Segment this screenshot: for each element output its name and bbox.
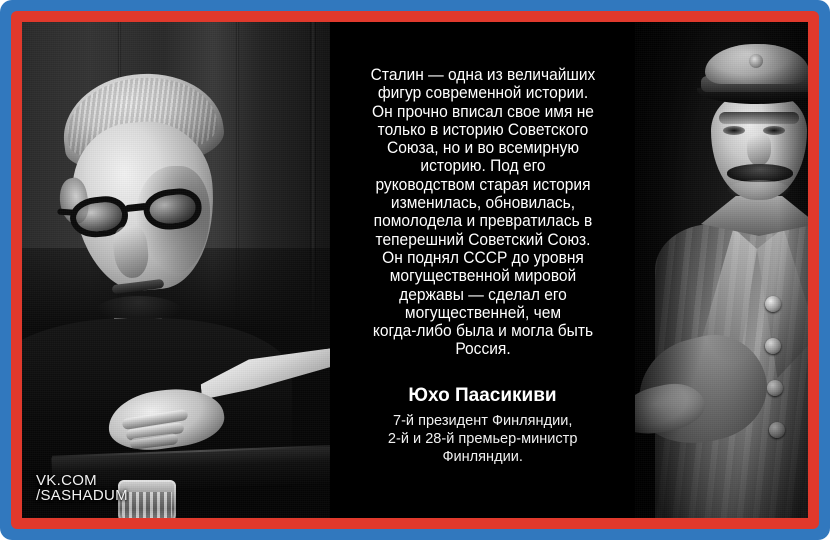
drinking-glass-ribs	[122, 492, 172, 518]
macro-canvas: VK.COM /SASHADUM Сталин — одна из велича…	[22, 22, 808, 518]
photo-paasikivi: VK.COM /SASHADUM	[22, 22, 330, 518]
image-macro: VK.COM /SASHADUM Сталин — одна из велича…	[0, 0, 830, 540]
inner-red-frame: VK.COM /SASHADUM Сталин — одна из велича…	[11, 11, 819, 529]
lens-right	[142, 186, 204, 232]
attribution-role: 7-й президент Финляндии, 2-й и 28-й прем…	[388, 412, 577, 467]
photo-vignette	[635, 22, 808, 518]
quote-panel: Сталин — одна из величайших фигур соврем…	[330, 22, 635, 518]
quote-text: Сталин — одна из величайших фигур соврем…	[370, 66, 595, 359]
watermark: VK.COM /SASHADUM	[36, 473, 128, 504]
attribution: Юхо Паасикиви 7-й президент Финляндии, 2…	[385, 385, 580, 467]
photo-stalin	[635, 22, 808, 518]
glasses-temple	[57, 209, 77, 216]
attribution-name: Юхо Паасикиви	[385, 385, 580, 408]
